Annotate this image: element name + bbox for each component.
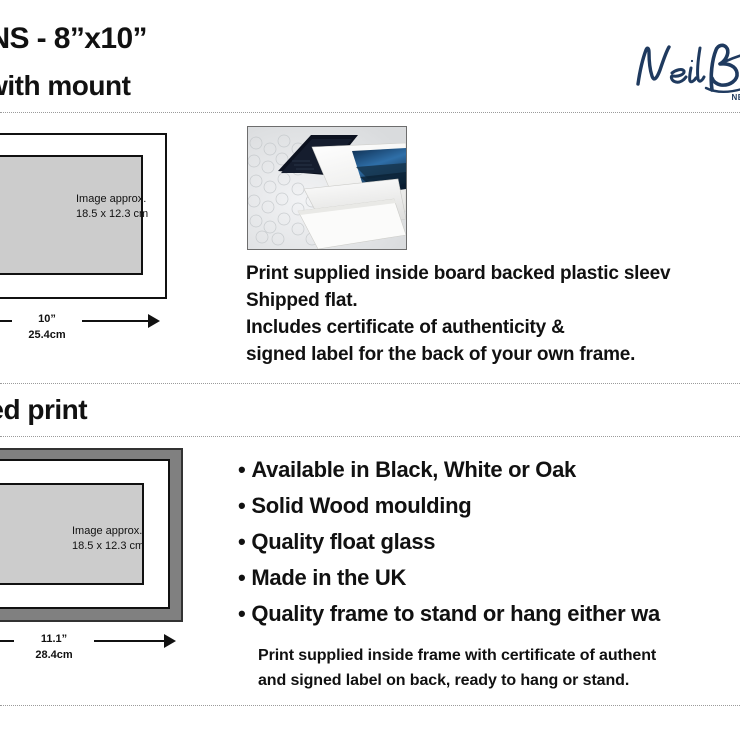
list-item-label: Solid Wood moulding [251, 493, 471, 518]
frame-width-dimension: 11.1” 28.4cm [0, 634, 186, 658]
list-item-label: Quality frame to stand or hang either wa [251, 601, 660, 626]
mount-image-size-line1: Image approx. [76, 192, 148, 207]
frame-width-cm: 28.4cm [10, 648, 98, 662]
bullet-marker-icon: • [238, 488, 245, 524]
frame-image-size-line1: Image approx. [72, 524, 144, 539]
bullet-marker-icon: • [238, 596, 245, 632]
list-item: •Quality float glass [238, 524, 740, 560]
product-dimensions-sheet: IONS - 8”x10” t with mount NB [0, 0, 740, 736]
list-item: •Made in the UK [238, 560, 740, 596]
frame-width-inches: 11.1” [14, 632, 94, 646]
print-with-mount-photo [247, 126, 407, 250]
mount-description: Print supplied inside board backed plast… [246, 260, 740, 368]
frame-description-line-1: Print supplied inside frame with certifi… [258, 643, 740, 668]
bullet-marker-icon: • [238, 560, 245, 596]
divider-top [0, 112, 740, 113]
list-item-label: Quality float glass [251, 529, 435, 554]
divider-footer [0, 705, 740, 706]
bullet-marker-icon: • [238, 452, 245, 488]
frame-image-size-line2: 18.5 x 12.3 cm [72, 539, 144, 554]
list-item-label: Made in the UK [251, 565, 406, 590]
mount-description-line-1: Print supplied inside board backed plast… [246, 260, 740, 287]
page-subtitle: t with mount [0, 70, 130, 102]
frame-image-size-label: Image approx. 18.5 x 12.3 cm [72, 524, 144, 554]
frame-description-line-2: and signed label on back, ready to hang … [258, 668, 740, 693]
list-item: •Quality frame to stand or hang either w… [238, 596, 740, 632]
page-title: IONS - 8”x10” [0, 22, 147, 56]
bullet-marker-icon: • [238, 524, 245, 560]
divider-middle-lower [0, 436, 740, 437]
mount-width-cm: 25.4cm [8, 328, 86, 342]
mount-description-line-4: signed label for the back of your own fr… [246, 341, 740, 368]
mount-image-size-line2: 18.5 x 12.3 cm [76, 207, 148, 222]
frame-feature-list: •Available in Black, White or Oak •Solid… [238, 452, 740, 632]
mount-width-dimension: 10” 25.4cm [0, 314, 170, 338]
list-item-label: Available in Black, White or Oak [251, 457, 576, 482]
list-item: •Available in Black, White or Oak [238, 452, 740, 488]
divider-middle-upper [0, 383, 740, 384]
mount-image-size-label: Image approx. 18.5 x 12.3 cm [76, 192, 148, 222]
frame-description: Print supplied inside frame with certifi… [258, 643, 740, 693]
list-item: •Solid Wood moulding [238, 488, 740, 524]
mount-description-line-3: Includes certificate of authenticity & [246, 314, 740, 341]
mount-description-line-2: Shipped flat. [246, 287, 740, 314]
mount-width-inches: 10” [12, 312, 82, 326]
framed-print-title: med print [0, 394, 87, 426]
signature-logo-icon: NB [628, 38, 740, 104]
logo-initials: NB [731, 93, 740, 102]
